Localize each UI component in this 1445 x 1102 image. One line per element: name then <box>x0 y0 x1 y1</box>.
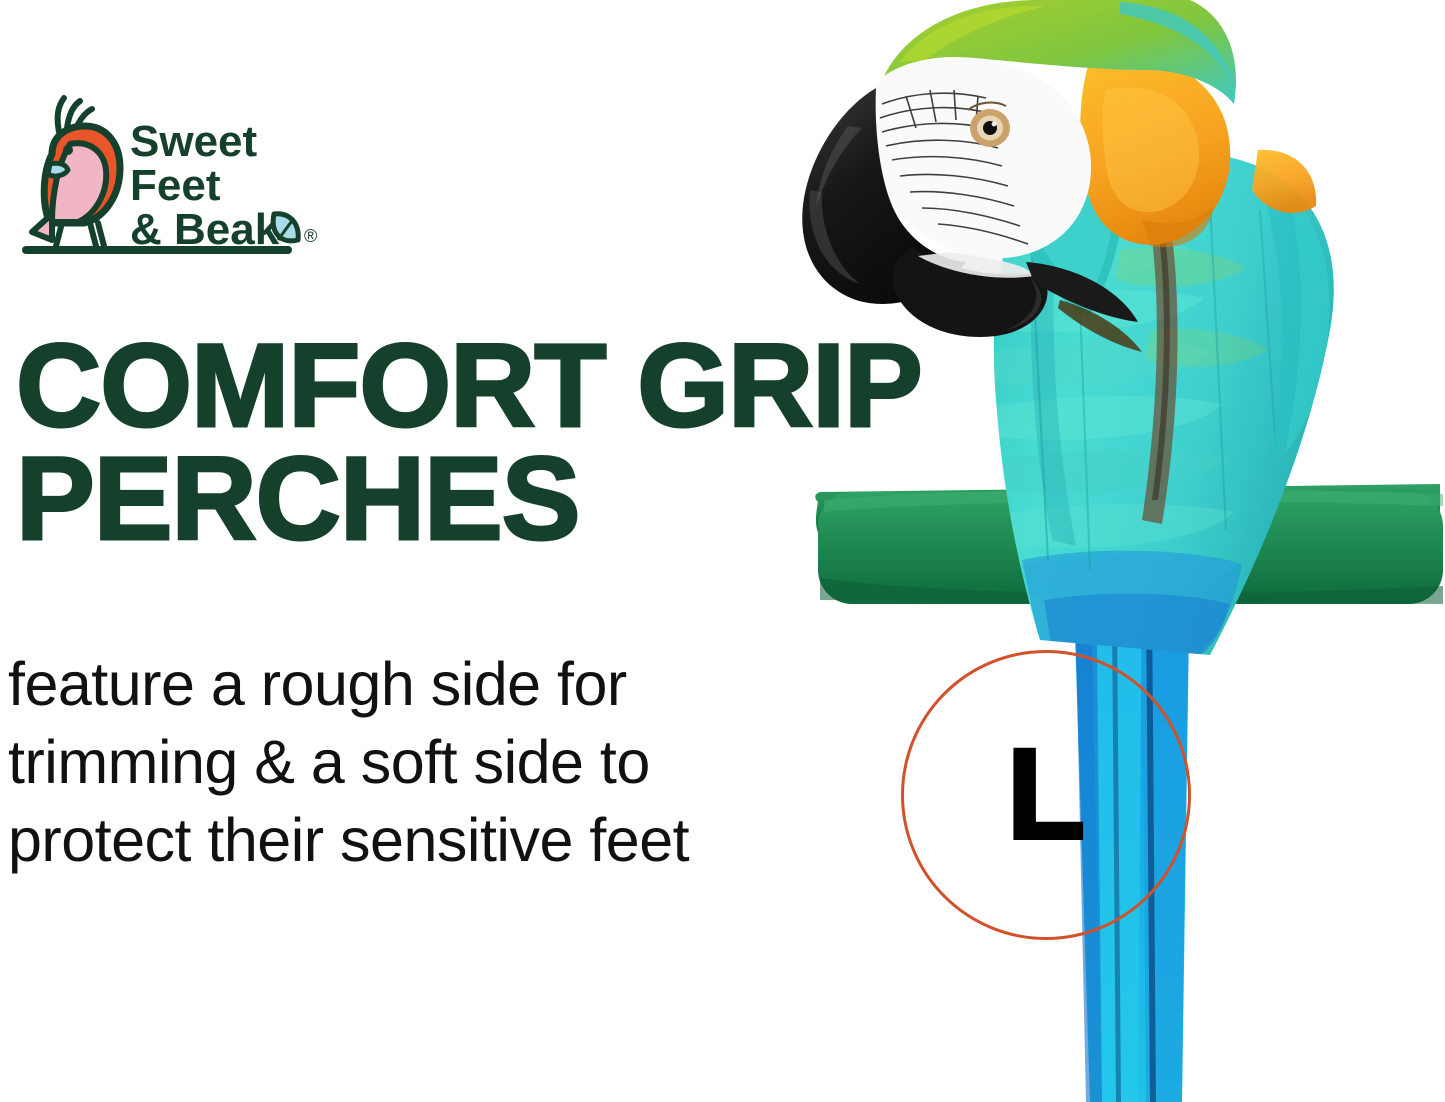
logo-line-1: Sweet <box>130 117 258 166</box>
product-description: feature a rough side for trimming & a so… <box>8 645 838 879</box>
leaf-icon <box>273 214 298 241</box>
brand-logo: Sweet Feet & Beak ® <box>12 82 322 262</box>
registered-trademark-mark: ® <box>304 226 317 246</box>
logo-bird-eye <box>63 145 73 155</box>
logo-line-3: & Beak <box>130 205 280 254</box>
logo-wordmark: Sweet Feet & Beak <box>130 117 280 254</box>
product-photo-area <box>790 0 1445 1102</box>
product-marketing-image: Sweet Feet & Beak ® COMFORT GRIP PERCHES… <box>0 0 1445 1102</box>
macaw-throat <box>1080 56 1230 247</box>
logo-line-2: Feet <box>130 161 221 210</box>
